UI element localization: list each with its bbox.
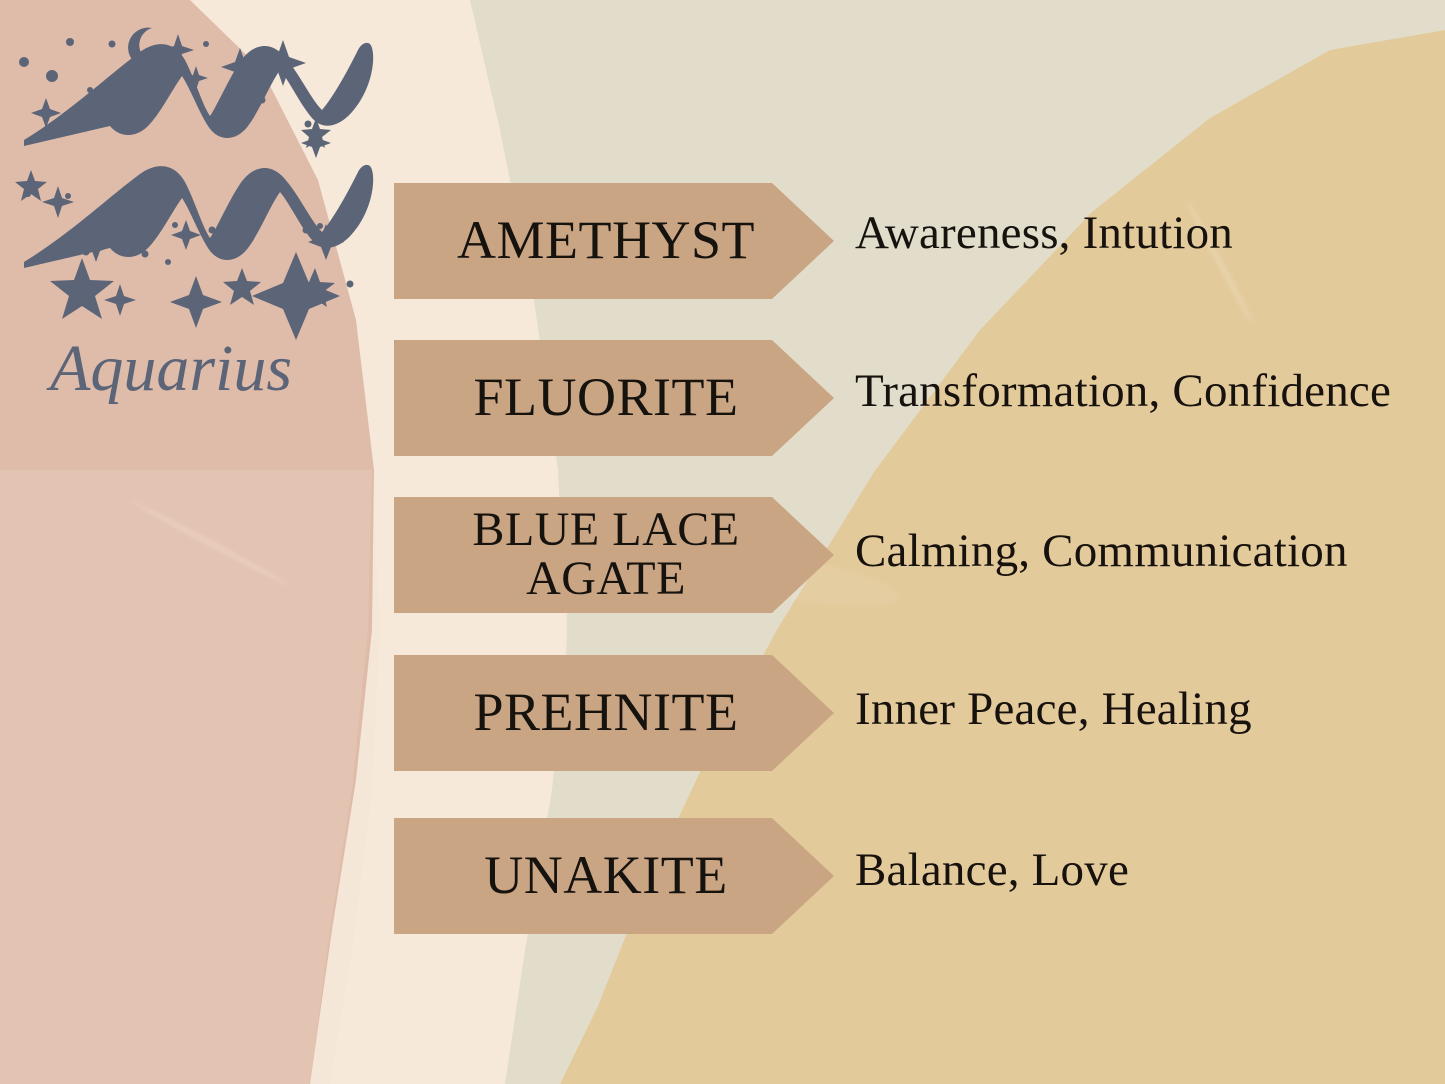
crystal-name: BLUE LACE AGATE <box>462 506 765 604</box>
crystal-row: FLUORITE <box>394 340 834 456</box>
crystal-name: PREHNITE <box>464 685 765 740</box>
crystal-name-banner[interactable]: FLUORITE <box>394 340 834 456</box>
crystal-list: AMETHYST Awareness, Intution FLUORITE Tr… <box>0 0 1445 1084</box>
crystal-row: PREHNITE <box>394 655 834 771</box>
crystal-name-banner[interactable]: BLUE LACE AGATE <box>394 497 834 613</box>
crystal-name: UNAKITE <box>474 848 753 903</box>
crystal-meaning: Balance, Love <box>855 843 1129 897</box>
crystal-name-banner[interactable]: AMETHYST <box>394 183 834 299</box>
crystal-row: BLUE LACE AGATE <box>394 497 834 613</box>
crystal-name: AMETHYST <box>447 213 781 268</box>
crystal-name-banner[interactable]: PREHNITE <box>394 655 834 771</box>
crystal-name: FLUORITE <box>464 370 765 425</box>
crystal-meaning: Transformation, Confidence <box>855 364 1391 418</box>
poster-canvas: Aquarius AMETHYST Awareness, Intution FL… <box>0 0 1445 1084</box>
crystal-row: UNAKITE <box>394 818 834 934</box>
crystal-meaning: Awareness, Intution <box>855 206 1233 260</box>
crystal-name-banner[interactable]: UNAKITE <box>394 818 834 934</box>
crystal-meaning: Inner Peace, Healing <box>855 682 1252 736</box>
crystal-row: AMETHYST <box>394 183 834 299</box>
crystal-meaning: Calming, Communication <box>855 524 1348 578</box>
